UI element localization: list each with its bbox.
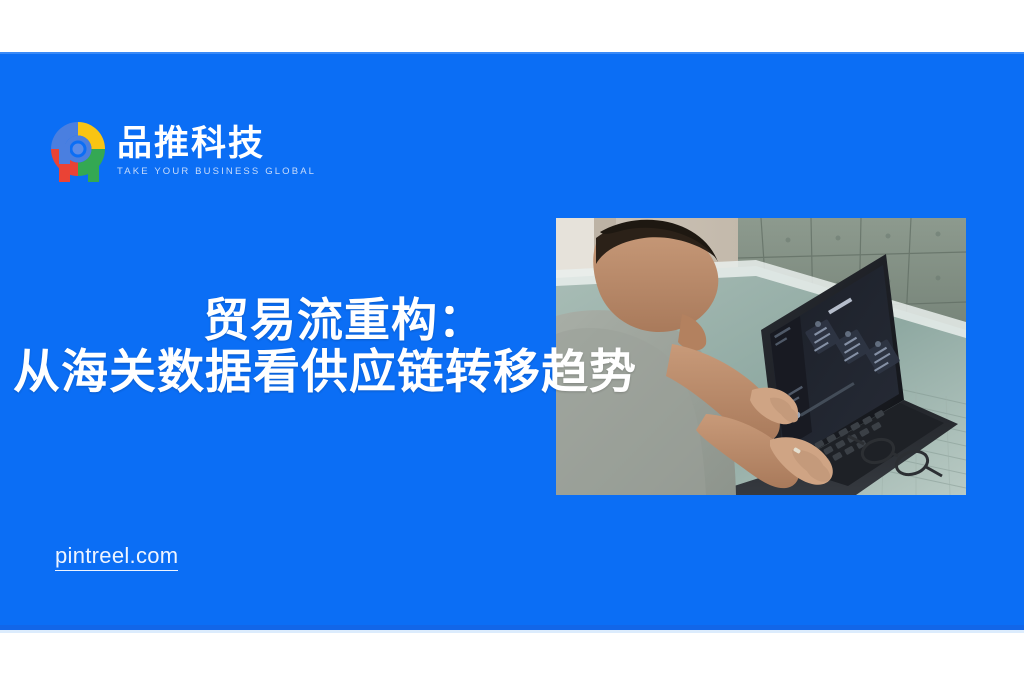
page-title-line-2: 从海关数据看供应链转移趋势 xyxy=(0,346,680,398)
page-title: 贸易流重构： 从海关数据看供应链转移趋势 xyxy=(0,294,680,398)
banner-top-edge xyxy=(0,52,1024,54)
brand-text-wrap: 品推科技 TAKE YOUR BUSINESS GLOBAL xyxy=(117,124,316,177)
brand-tagline: TAKE YOUR BUSINESS GLOBAL xyxy=(117,166,316,177)
pintreel-pa-logo-icon xyxy=(47,118,109,184)
banner-bottom-hairline xyxy=(0,630,1024,633)
website-url-link[interactable]: pintreel.com xyxy=(55,543,178,571)
slide-canvas: 品推科技 TAKE YOUR BUSINESS GLOBAL xyxy=(0,0,1024,683)
brand-logo[interactable]: 品推科技 TAKE YOUR BUSINESS GLOBAL xyxy=(47,118,316,184)
page-title-line-1: 贸易流重构： xyxy=(0,294,680,346)
brand-name-cn: 品推科技 xyxy=(117,126,316,163)
